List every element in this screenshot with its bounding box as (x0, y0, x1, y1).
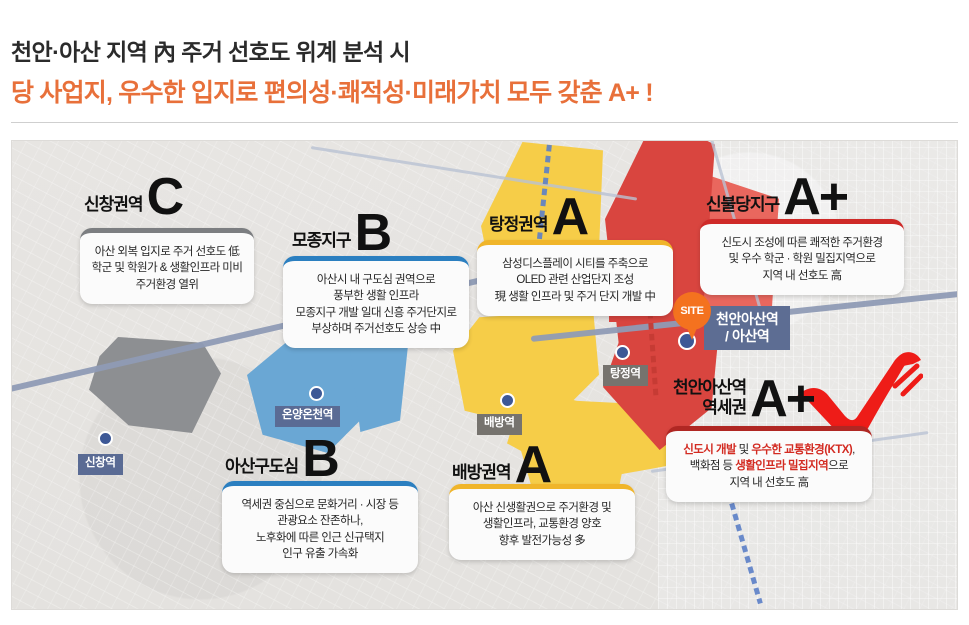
station-label-line1: 천안아산역 (716, 311, 778, 328)
grade-value-tangjeong: A (552, 196, 588, 239)
callout-line: 부상하며 주거선호도 상승 中 (293, 321, 459, 337)
station-label-line2: / 아산역 (716, 328, 778, 345)
callout-tangjeong[interactable]: 삼성디스플레이 시티를 주축으로 OLED 관련 산업단지 조성 現 생활 인프… (477, 240, 673, 316)
station-dot-onyang[interactable] (309, 386, 324, 401)
callout-line: 現 생활 인프라 및 주거 단지 개발 中 (487, 289, 663, 305)
zone-label-station-area: 천안아산역 역세권 (673, 378, 746, 421)
zone-label-sinbuldang: 신불당지구 (706, 196, 779, 219)
callout-line: 백화점 등 생활인프라 밀집지역으로 (676, 458, 862, 474)
grade-marker-sinchang: 신창권역 C (84, 176, 182, 219)
grade-marker-asan-gudosim: 아산구도심 B (225, 438, 338, 481)
callout-line: 학군 및 학원가 & 생활인프라 미비 (90, 260, 244, 276)
grade-marker-station-area: 천안아산역 역세권 A+ (673, 378, 814, 421)
zone-label-station-area-l2: 역세권 (673, 398, 746, 418)
callout-line: 역세권 중심으로 문화거리 · 시장 등 (232, 497, 408, 513)
callout-line: 노후화에 따른 인근 신규택지 (232, 530, 408, 546)
station-dot-baebang[interactable] (500, 393, 515, 408)
callout-line: 아산시 내 구도심 권역으로 (293, 272, 459, 288)
grade-marker-baebang: 배방권역 A (452, 444, 550, 487)
grade-value-asan-gudosim: B (302, 438, 338, 481)
station-label-tangjeong[interactable]: 탕정역 (603, 365, 648, 386)
callout-line: 및 우수 학군 · 학원 밀집지역으로 (710, 251, 894, 267)
zone-label-asan-gudosim: 아산구도심 (225, 458, 298, 481)
callout-line: 모종지구 개발 일대 신흥 주거단지로 (293, 305, 459, 321)
zone-label-station-area-l1: 천안아산역 (673, 378, 746, 398)
callout-asan-gudosim[interactable]: 역세권 중심으로 문화거리 · 시장 등 관광요소 잔존하나, 노후화에 따른 … (222, 481, 418, 573)
infographic-page: 천안·아산 지역 內 주거 선호도 위계 분석 시 당 사업지, 우수한 입지로… (0, 0, 969, 625)
grade-value-sinbuldang: A+ (783, 176, 847, 219)
callout-baebang[interactable]: 아산 신생활권으로 주거환경 및 생활인프라, 교통환경 양호 향후 발전가능성… (449, 484, 635, 560)
site-marker-head: SITE (673, 292, 711, 330)
grade-value-sinchang: C (147, 176, 183, 219)
zone-label-mojong: 모종지구 (292, 232, 351, 255)
station-label-baebang[interactable]: 배방역 (477, 414, 522, 435)
zone-label-tangjeong: 탕정권역 (489, 216, 548, 239)
station-dot-tangjeong[interactable] (615, 345, 630, 360)
callout-line: 인구 유출 가속화 (232, 546, 408, 562)
callout-line: 주거환경 열위 (90, 277, 244, 293)
callout-line: 지역 내 선호도 高 (710, 268, 894, 284)
station-dot-sinchang[interactable] (98, 431, 113, 446)
callout-line: 향후 발전가능성 多 (459, 533, 625, 549)
callout-sinchang[interactable]: 아산 외복 입지로 주거 선호도 低 학군 및 학원가 & 생활인프라 미비 주… (80, 228, 254, 304)
header-divider (11, 122, 958, 123)
grade-value-mojong: B (355, 212, 391, 255)
header: 천안·아산 지역 內 주거 선호도 위계 분석 시 당 사업지, 우수한 입지로… (0, 0, 969, 128)
callout-line: 삼성디스플레이 시티를 주축으로 (487, 256, 663, 272)
callout-station-area[interactable]: 신도시 개발 및 우수한 교통환경(KTX), 백화점 등 생활인프라 밀집지역… (666, 426, 872, 502)
callout-line: 관광요소 잔존하나, (232, 513, 408, 529)
page-title-line2: 당 사업지, 우수한 입지로 편의성·쾌적성·미래가치 모두 갖춘 A+ ! (11, 73, 653, 109)
station-label-cheonan-asan[interactable]: 천안아산역 / 아산역 (704, 306, 790, 350)
callout-line: 신도시 조성에 따른 쾌적한 주거환경 (710, 235, 894, 251)
callout-line: 신도시 개발 및 우수한 교통환경(KTX), (676, 442, 862, 458)
callout-mojong[interactable]: 아산시 내 구도심 권역으로 풍부한 생활 인프라 모종지구 개발 일대 신흥 … (283, 256, 469, 348)
callout-line: 지역 내 선호도 高 (676, 475, 862, 491)
page-title-line1: 천안·아산 지역 內 주거 선호도 위계 분석 시 (11, 33, 410, 67)
grade-marker-sinbuldang: 신불당지구 A+ (706, 176, 847, 219)
station-label-sinchang[interactable]: 신창역 (78, 454, 123, 475)
callout-sinbuldang[interactable]: 신도시 조성에 따른 쾌적한 주거환경 및 우수 학군 · 학원 밀집지역으로 … (700, 219, 904, 295)
zone-label-sinchang: 신창권역 (84, 196, 143, 219)
callout-line: 풍부한 생활 인프라 (293, 288, 459, 304)
site-marker-label: SITE (680, 305, 703, 317)
grade-value-station-area: A+ (750, 378, 814, 421)
grade-marker-tangjeong: 탕정권역 A (489, 196, 587, 239)
callout-line: OLED 관련 산업단지 조성 (487, 272, 663, 288)
site-marker[interactable]: SITE (673, 292, 711, 340)
grade-marker-mojong: 모종지구 B (292, 212, 390, 255)
callout-line: 아산 신생활권으로 주거환경 및 (459, 500, 625, 516)
callout-line: 아산 외복 입지로 주거 선호도 低 (90, 244, 244, 260)
callout-line: 생활인프라, 교통환경 양호 (459, 516, 625, 532)
station-label-onyang[interactable]: 온양온천역 (275, 406, 340, 427)
grade-value-baebang: A (515, 444, 551, 487)
